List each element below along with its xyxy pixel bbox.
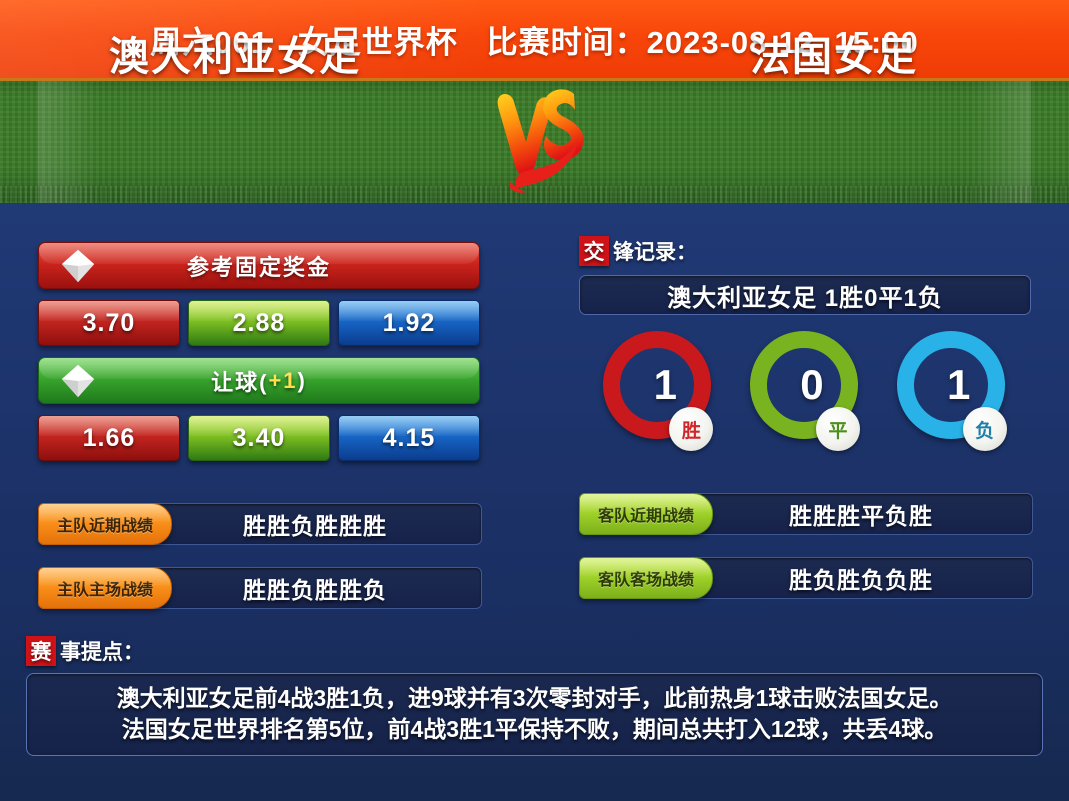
handicap-label: 让球( bbox=[211, 365, 268, 397]
tab-gloss bbox=[580, 494, 712, 512]
diamond-icon bbox=[59, 247, 97, 285]
away-venue-form-label[interactable]: 客队客场战绩 bbox=[579, 557, 713, 599]
win-badge: 胜 bbox=[669, 407, 713, 451]
home-recent-form-row: 胜胜负胜胜胜 主队近期战绩 bbox=[38, 503, 480, 545]
analysis-text-box: 澳大利亚女足前4战3胜1负，进9球并有3次零封对手，此前热身1球击败法国女足。 … bbox=[26, 673, 1043, 756]
away-recent-form-value: 胜胜胜平负胜 bbox=[679, 497, 933, 531]
home-venue-form-row: 胜胜负胜胜负 主队主场战绩 bbox=[38, 567, 480, 609]
handicap-value: +1 bbox=[268, 368, 297, 394]
odds-draw-value: 2.88 bbox=[233, 309, 286, 338]
fixed-odds-title: 参考固定奖金 bbox=[187, 250, 331, 282]
fixed-odds-row: 3.70 2.88 1.92 bbox=[38, 300, 480, 346]
handicap-draw-button[interactable]: 3.40 bbox=[188, 415, 330, 461]
handicap-label-close: ) bbox=[298, 368, 307, 394]
tab-gloss bbox=[580, 558, 712, 576]
h2h-draw-ring: 0 平 bbox=[746, 331, 864, 451]
loss-badge: 负 bbox=[963, 407, 1007, 451]
handicap-home-button[interactable]: 1.66 bbox=[38, 415, 180, 461]
odds-away-button[interactable]: 1.92 bbox=[338, 300, 480, 346]
h2h-section-label: 交 锋记录： bbox=[579, 236, 1031, 266]
odds-panel: 参考固定奖金 3.70 2.88 1.92 bbox=[38, 242, 480, 609]
handicap-home-value: 1.66 bbox=[83, 424, 136, 453]
away-recent-form-row: 胜胜胜平负胜 客队近期战绩 bbox=[579, 493, 1031, 535]
analysis-label-text: 事提点： bbox=[60, 636, 144, 666]
home-recent-form-label[interactable]: 主队近期战绩 bbox=[38, 503, 172, 545]
handicap-odds-row: 1.66 3.40 4.15 bbox=[38, 415, 480, 461]
h2h-loss-ring: 1 负 bbox=[893, 331, 1011, 451]
odds-home-button[interactable]: 3.70 bbox=[38, 300, 180, 346]
odds-draw-button[interactable]: 2.88 bbox=[188, 300, 330, 346]
away-venue-form-value: 胜负胜负负胜 bbox=[679, 561, 933, 595]
away-team-name: 法国女足 bbox=[599, 0, 1069, 105]
handicap-away-value: 4.15 bbox=[383, 424, 436, 453]
analysis-panel: 赛 事提点： 澳大利亚女足前4战3胜1负，进9球并有3次零封对手，此前热身1球击… bbox=[26, 636, 1043, 756]
handicap-header: 让球(+1) bbox=[38, 357, 480, 404]
head-to-head-panel: 交 锋记录： 澳大利亚女足 1胜0平1负 1 胜 0 平 1 负 bbox=[579, 236, 1031, 599]
tab-gloss bbox=[39, 568, 171, 586]
h2h-label-badge: 交 bbox=[579, 236, 609, 266]
home-team-name: 澳大利亚女足 bbox=[0, 0, 470, 105]
handicap-away-button[interactable]: 4.15 bbox=[338, 415, 480, 461]
home-venue-form-label[interactable]: 主队主场战绩 bbox=[38, 567, 172, 609]
handicap-draw-value: 3.40 bbox=[233, 424, 286, 453]
fixed-odds-header: 参考固定奖金 bbox=[38, 242, 480, 289]
analysis-section-label: 赛 事提点： bbox=[26, 636, 1043, 666]
draw-badge: 平 bbox=[816, 407, 860, 451]
diamond-icon bbox=[59, 362, 97, 400]
h2h-rings: 1 胜 0 平 1 负 bbox=[579, 331, 1031, 451]
odds-away-value: 1.92 bbox=[383, 309, 436, 338]
odds-home-value: 3.70 bbox=[83, 309, 136, 338]
h2h-summary-bar: 澳大利亚女足 1胜0平1负 bbox=[579, 275, 1031, 315]
away-venue-form-row: 胜负胜负负胜 客队客场战绩 bbox=[579, 557, 1031, 599]
h2h-win-ring: 1 胜 bbox=[599, 331, 717, 451]
analysis-line-1: 澳大利亚女足前4战3胜1负，进9球并有3次零封对手，此前热身1球击败法国女足。 bbox=[41, 683, 1028, 714]
away-recent-form-label[interactable]: 客队近期战绩 bbox=[579, 493, 713, 535]
match-preview-card: 周六001 女足世界杯 比赛时间：2023-08-12 15:00 澳大利亚女足… bbox=[0, 0, 1069, 801]
analysis-label-badge: 赛 bbox=[26, 636, 56, 666]
h2h-summary-text: 澳大利亚女足 1胜0平1负 bbox=[667, 278, 943, 313]
vs-icon bbox=[470, 82, 600, 200]
h2h-label-text: 锋记录： bbox=[613, 236, 697, 266]
tab-gloss bbox=[39, 504, 171, 522]
analysis-line-2: 法国女足世界排名第5位，前4战3胜1平保持不败，期间总共打入12球，共丢4球。 bbox=[41, 714, 1028, 745]
